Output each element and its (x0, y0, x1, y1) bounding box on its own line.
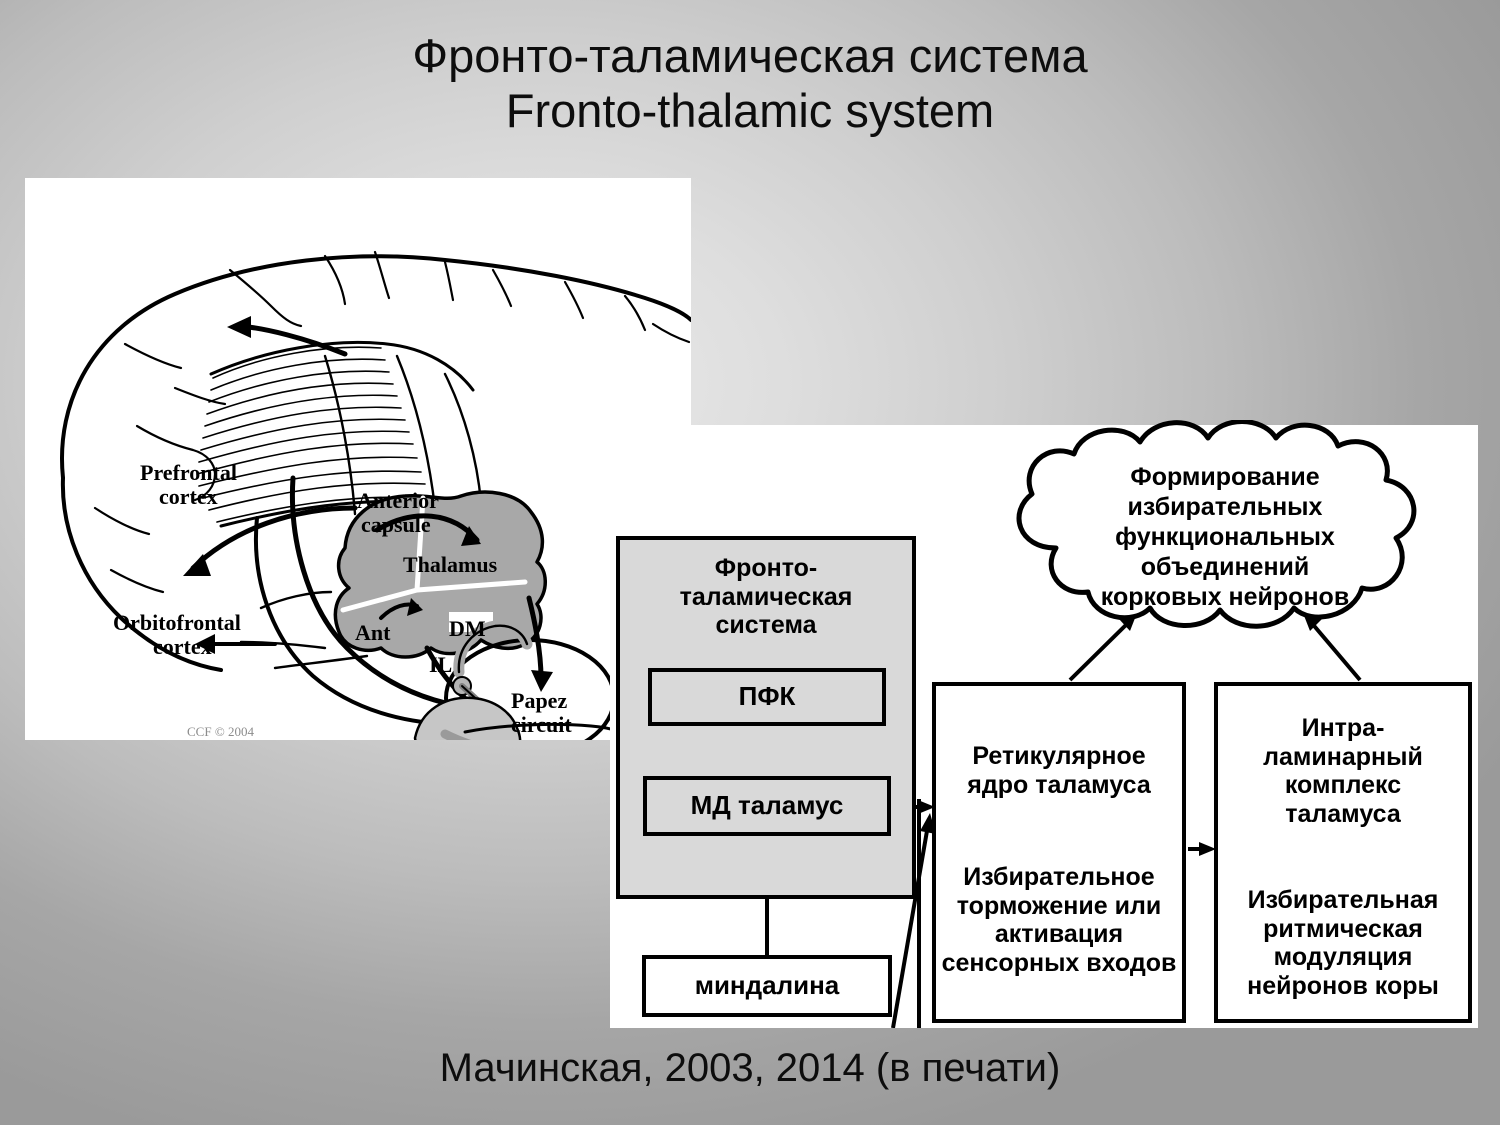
intralaminar-complex-box: Интра- ламинарный комплекс таламуса Изби… (1214, 682, 1472, 1023)
pfc-box-label: ПФК (739, 682, 796, 712)
reticular-sub-line2: торможение или (957, 892, 1161, 921)
reticular-title-line1: Ретикулярное (972, 742, 1145, 771)
reticular-nucleus-box: Ретикулярное ядро таламуса Избирательное… (932, 682, 1186, 1023)
brain-illustration-panel: Prefrontal cortex Anterior capsule Thala… (25, 178, 691, 740)
page-title: Фронто-таламическая система Fronto-thala… (0, 28, 1500, 139)
label-papez-circuit-line1: Papez (511, 688, 567, 713)
title-line-english: Fronto-thalamic system (0, 83, 1500, 138)
cloud-line2: избирательных (990, 492, 1460, 522)
cloud-callout: Формирование избирательных функциональны… (990, 420, 1460, 642)
cloud-line1: Формирование (990, 462, 1460, 492)
fts-title-line2: таламическая (680, 583, 853, 612)
reticular-sub-line4: сенсорных входов (942, 949, 1177, 978)
label-orbitofrontal-cortex-line2: cortex (153, 634, 212, 659)
reticular-title-line2: ядро таламуса (967, 771, 1150, 800)
amygdala-box-label: миндалина (695, 971, 840, 1001)
label-copyright: CCF © 2004 (187, 724, 254, 739)
reticular-sub-line1: Избирательное (963, 863, 1154, 892)
label-ant-nucleus: Ant (355, 620, 391, 645)
intralaminar-sub-line1: Избирательная (1248, 886, 1439, 915)
slide-root: Фронто-таламическая система Fronto-thala… (0, 0, 1500, 1125)
cloud-line3: функциональных (990, 522, 1460, 552)
intralaminar-sub-line4: нейронов коры (1247, 972, 1439, 1001)
md-thalamus-box: МД таламус (643, 776, 891, 836)
label-thalamus: Thalamus (403, 552, 498, 577)
label-prefrontal-cortex-line2: cortex (159, 484, 218, 509)
label-orbitofrontal-cortex-line1: Orbitofrontal (113, 610, 241, 635)
amygdala-box: миндалина (642, 955, 892, 1017)
pfc-box: ПФК (648, 668, 886, 726)
label-dm-nucleus: DM (449, 616, 486, 641)
label-il-nucleus: IL (429, 652, 452, 677)
intralaminar-title-line1: Интра- (1302, 714, 1385, 743)
reticular-sub-line3: активация (995, 920, 1123, 949)
fts-title-line3: система (715, 611, 816, 640)
block-diagram-panel: Фронто- таламическая система ПФК МД тала… (610, 425, 1478, 1028)
label-papez-circuit-line2: circuit (511, 712, 572, 737)
intralaminar-title-line3: комплекс (1285, 771, 1401, 800)
intralaminar-title-line4: таламуса (1285, 800, 1401, 829)
intralaminar-sub-line2: ритмическая (1263, 915, 1423, 944)
label-anterior-capsule-line2: capsule (361, 512, 431, 537)
intralaminar-sub-line3: модуляция (1274, 943, 1413, 972)
label-anterior-capsule-line1: Anterior (357, 488, 439, 513)
cloud-line5: корковых нейронов (990, 582, 1460, 612)
citation-text: Мачинская, 2003, 2014 (в печати) (0, 1046, 1500, 1091)
fts-title-line1: Фронто- (715, 554, 818, 583)
title-line-russian: Фронто-таламическая система (0, 28, 1500, 83)
intralaminar-title-line2: ламинарный (1263, 743, 1423, 772)
md-thalamus-box-label: МД таламус (691, 791, 844, 821)
brain-diagram-svg: Prefrontal cortex Anterior capsule Thala… (25, 178, 691, 740)
cloud-text: Формирование избирательных функциональны… (990, 462, 1460, 612)
cloud-line4: объединений (990, 552, 1460, 582)
label-prefrontal-cortex-line1: Prefrontal (140, 460, 237, 485)
